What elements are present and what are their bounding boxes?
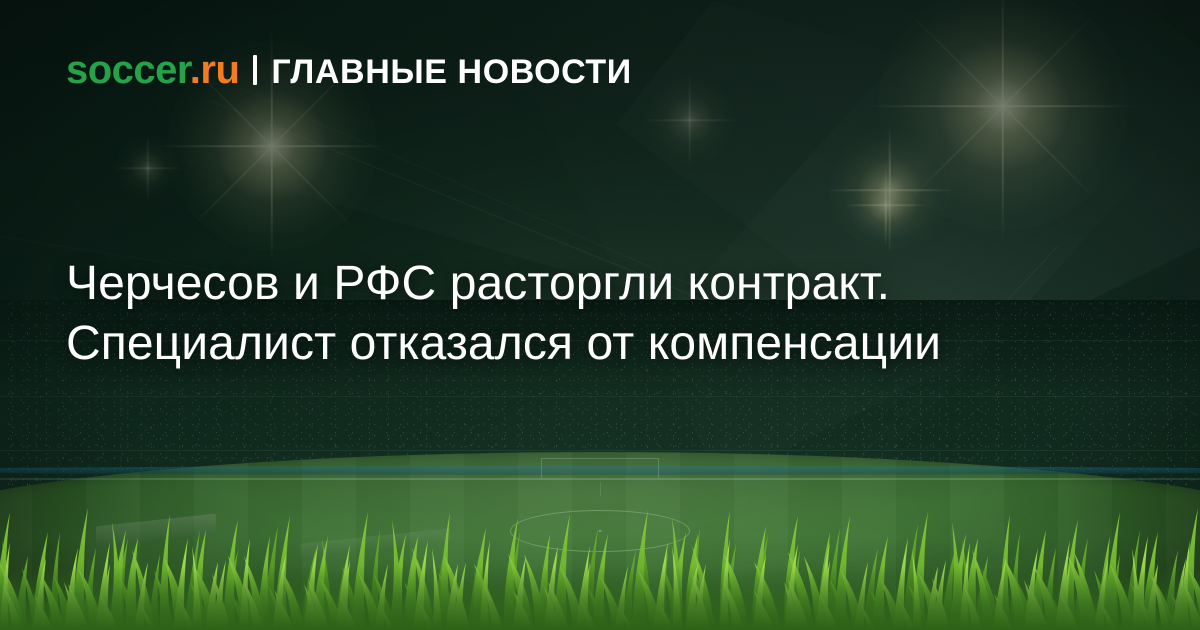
brand-divider — [253, 55, 257, 85]
news-share-card: soccer.ru ГЛАВНЫЕ НОВОСТИ Черчесов и РФС… — [0, 0, 1200, 630]
logo-word-soccer: soccer — [66, 48, 190, 92]
brand-bar: soccer.ru ГЛАВНЫЕ НОВОСТИ — [66, 50, 632, 90]
section-kicker: ГЛАВНЫЕ НОВОСТИ — [271, 55, 631, 89]
card-content: soccer.ru ГЛАВНЫЕ НОВОСТИ Черчесов и РФС… — [0, 0, 1200, 630]
site-logo[interactable]: soccer.ru — [66, 50, 239, 90]
page-title: Черчесов и РФС расторгли контракт. Специ… — [66, 254, 1136, 374]
logo-word-ru: .ru — [190, 48, 240, 92]
